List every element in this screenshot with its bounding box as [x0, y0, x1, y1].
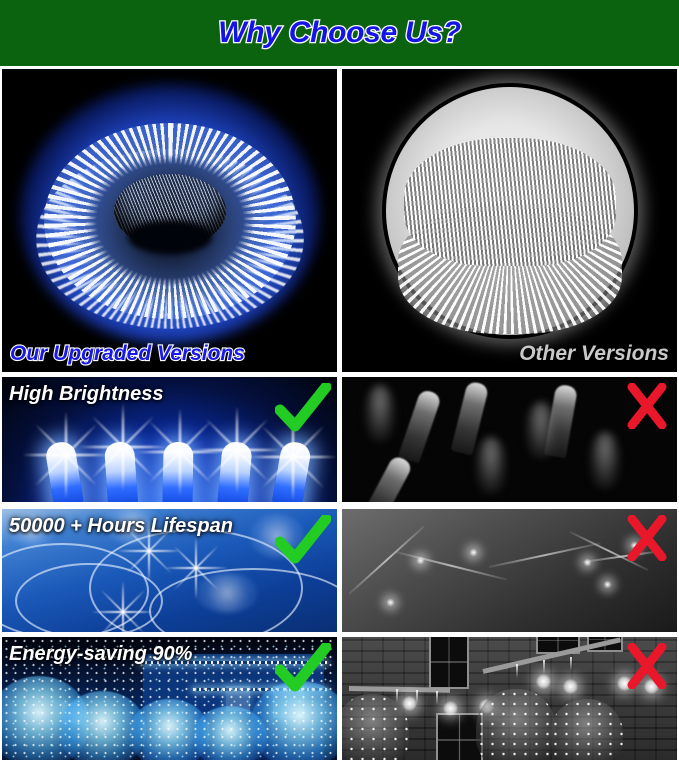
cell-theirs-lifespan: [342, 509, 677, 632]
comparison-row-energy: Energy-saving 90%: [0, 637, 679, 760]
comparison-row-lifespan: 50000 + Hours Lifespan: [0, 509, 679, 632]
cell-ours-lifespan: 50000 + Hours Lifespan: [2, 509, 337, 632]
cross-mark-icon: [625, 643, 669, 689]
comparison-row-hero: Our Upgraded Versions Other Versions: [0, 69, 679, 372]
comparison-row-brightness: High Brightness: [0, 377, 679, 502]
cell-ours-hero: Our Upgraded Versions: [2, 69, 337, 372]
cell-theirs-hero: Other Versions: [342, 69, 677, 372]
plain-white-string-light-bundle-image: [342, 69, 677, 372]
cross-mark-icon: [625, 383, 669, 429]
label-our-upgraded-versions: Our Upgraded Versions: [10, 343, 245, 364]
cross-mark-icon: [625, 515, 669, 561]
label-lifespan: 50000 + Hours Lifespan: [9, 516, 233, 536]
label-high-brightness: High Brightness: [9, 384, 163, 404]
cell-theirs-energy: [342, 637, 677, 760]
page-title: Why Choose Us?: [218, 16, 460, 50]
check-mark-icon: [275, 383, 331, 435]
cell-ours-brightness: High Brightness: [2, 377, 337, 502]
check-mark-icon: [275, 515, 331, 567]
label-energy-saving: Energy-saving 90%: [9, 644, 192, 664]
label-other-versions: Other Versions: [519, 343, 669, 364]
cell-ours-energy: Energy-saving 90%: [2, 637, 337, 760]
why-choose-us-infographic: Why Choose Us? Our Upgraded Versions: [0, 0, 679, 762]
comparison-grid: Our Upgraded Versions Other Versions: [0, 66, 679, 762]
blue-led-string-light-coil-image: [2, 69, 337, 372]
header-banner: Why Choose Us?: [0, 0, 679, 66]
cell-theirs-brightness: [342, 377, 677, 502]
check-mark-icon: [275, 643, 331, 695]
